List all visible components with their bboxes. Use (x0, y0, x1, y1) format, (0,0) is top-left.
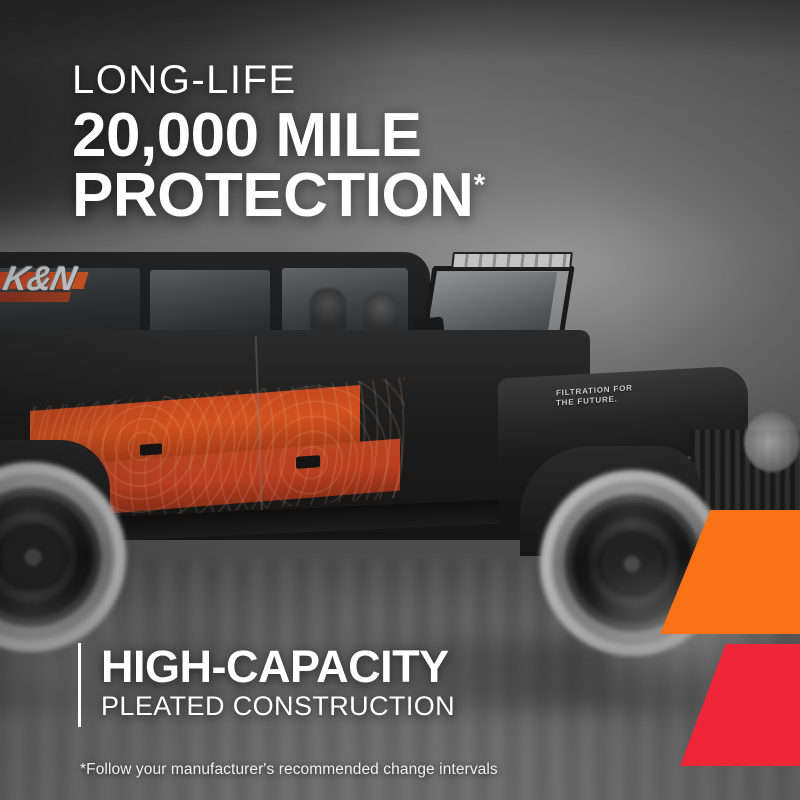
headline-line-2: PROTECTION (72, 166, 473, 226)
subhead-block: HIGH-CAPACITY PLEATED CONSTRUCTION (78, 643, 455, 727)
marketing-banner: FILTRATION FOR THE FUTURE. K&N LONG-LIFE… (0, 0, 800, 800)
subhead-caption: PLEATED CONSTRUCTION (101, 691, 455, 721)
headline-main: 20,000 MILE PROTECTION* (72, 106, 712, 226)
headline-block: LONG-LIFE 20,000 MILE PROTECTION* (72, 58, 712, 226)
headline-asterisk: * (473, 168, 484, 201)
headline-line-1: 20,000 MILE (72, 106, 712, 166)
headline-eyebrow: LONG-LIFE (72, 58, 712, 102)
subhead-title: HIGH-CAPACITY (101, 643, 455, 691)
headline-line-2-wrap: PROTECTION* (72, 166, 712, 226)
footnote-text: *Follow your manufacturer's recommended … (80, 761, 498, 779)
